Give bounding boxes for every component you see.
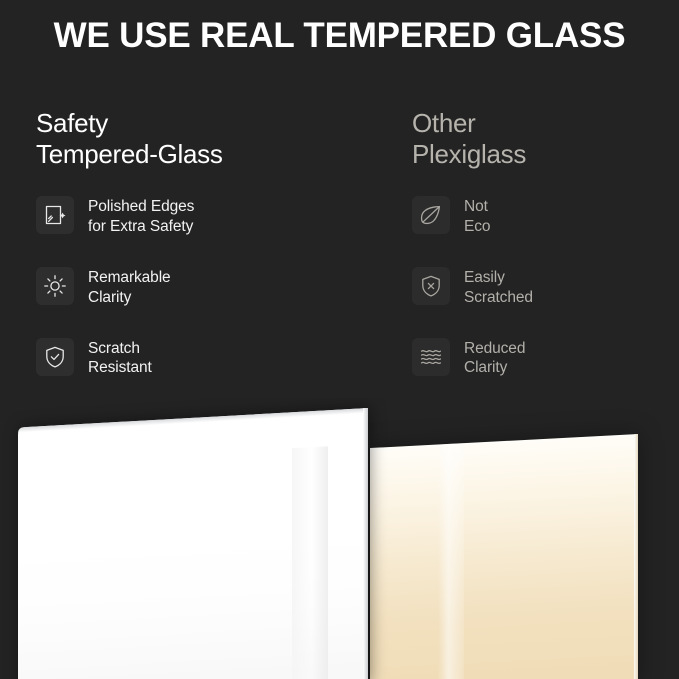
tempered-glass-panel-white: [18, 408, 368, 679]
sun-brightness-icon: [36, 267, 74, 305]
product-comparison-photo: [0, 398, 679, 679]
tempered-glass-right-edge: [363, 408, 368, 679]
feature-remarkable-clarity-text: Remarkable Clarity: [88, 266, 171, 308]
tempered-glass-top-edge: [18, 408, 368, 433]
feature-line2: for Extra Safety: [88, 217, 194, 237]
feature-scratch-resistant: Scratch Resistant: [36, 337, 376, 379]
feature-line1: Easily: [464, 268, 533, 288]
feature-reduced-clarity-text: Reduced Clarity: [464, 337, 525, 379]
feature-line1: Remarkable: [88, 268, 171, 288]
page-title: WE USE REAL TEMPERED GLASS: [0, 16, 679, 56]
polished-panel-sparkle-icon: [36, 196, 74, 234]
feature-line2: Clarity: [464, 358, 525, 378]
plexiglass-panel-reflection: [438, 443, 464, 679]
column-title-left: Safety Tempered-Glass: [36, 108, 376, 169]
comparison-infographic: WE USE REAL TEMPERED GLASS Safety Temper…: [0, 0, 679, 679]
feature-remarkable-clarity: Remarkable Clarity: [36, 266, 376, 308]
column-title-right-line2: Plexiglass: [412, 139, 672, 170]
feature-polished-edges: Polished Edges for Extra Safety: [36, 195, 376, 237]
feature-line1: Polished Edges: [88, 197, 194, 217]
shield-check-icon: [36, 338, 74, 376]
feature-line2: Eco: [464, 217, 490, 237]
feature-line1: Reduced: [464, 339, 525, 359]
column-title-left-line1: Safety: [36, 108, 376, 139]
feature-line2: Scratched: [464, 288, 533, 308]
feature-easily-scratched-text: Easily Scratched: [464, 266, 533, 308]
column-title-right-line1: Other: [412, 108, 672, 139]
column-title-right: Other Plexiglass: [412, 108, 672, 169]
feature-line2: Clarity: [88, 288, 171, 308]
feature-easily-scratched: Easily Scratched: [412, 266, 672, 308]
feature-not-eco: Not Eco: [412, 195, 672, 237]
feature-polished-edges-text: Polished Edges for Extra Safety: [88, 195, 194, 237]
column-title-left-line2: Tempered-Glass: [36, 139, 376, 170]
feature-line1: Scratch: [88, 339, 152, 359]
shield-x-icon: [412, 267, 450, 305]
column-safety-tempered-glass: Safety Tempered-Glass Polished Edges for…: [36, 108, 376, 378]
plexiglass-panel-edge: [634, 434, 638, 679]
column-other-plexiglass: Other Plexiglass Not Eco: [412, 108, 672, 378]
feature-scratch-resistant-text: Scratch Resistant: [88, 337, 152, 379]
feature-line1: Not: [464, 197, 490, 217]
tempered-glass-reflection: [292, 446, 328, 679]
feature-line2: Resistant: [88, 358, 152, 378]
wavy-lines-icon: [412, 338, 450, 376]
feature-reduced-clarity: Reduced Clarity: [412, 337, 672, 379]
plexiglass-panel-cream: [370, 434, 638, 679]
leaf-crossed-out-icon: [412, 196, 450, 234]
feature-not-eco-text: Not Eco: [464, 195, 490, 237]
